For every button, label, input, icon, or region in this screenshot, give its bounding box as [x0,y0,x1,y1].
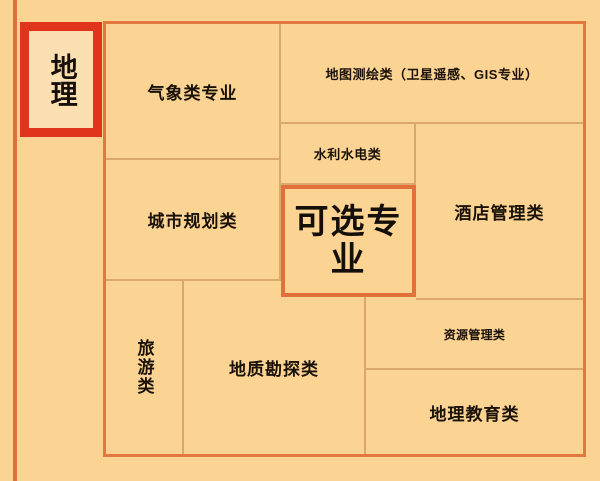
category-cell-geography-education[interactable]: 地理教育类 [366,370,583,454]
diagram-canvas: 地理 气象类专业 地图测绘类（卫星遥感、GIS专业） 水利水电类 城市规划类 酒… [0,0,600,481]
category-label-meteorology: 气象类专业 [144,79,242,104]
category-label-resource-management: 资源管理类 [440,326,510,343]
category-label-hotel-management: 酒店管理类 [451,199,549,224]
category-cell-geological-survey[interactable]: 地质勘探类 [184,281,366,454]
subject-label: 地理 [46,53,75,107]
category-cell-cartography[interactable]: 地图测绘类（卫星遥感、GIS专业） [281,24,583,124]
category-cell-hydropower[interactable]: 水利水电类 [281,124,416,185]
category-cell-hotel-management[interactable]: 酒店管理类 [416,124,583,300]
left-vertical-rule [13,0,17,481]
category-label-geological-survey: 地质勘探类 [225,355,323,380]
optional-majors-label: 可选专业 [285,203,412,279]
category-cell-urban-planning[interactable]: 城市规划类 [106,160,281,281]
category-cell-tourism[interactable]: 旅游类 [106,281,184,454]
optional-majors-callout[interactable]: 可选专业 [281,185,416,297]
category-label-urban-planning: 城市规划类 [144,207,242,232]
category-label-tourism: 旅游类 [130,339,157,396]
category-label-cartography: 地图测绘类（卫星遥感、GIS专业） [322,64,543,83]
category-cell-resource-management[interactable]: 资源管理类 [366,300,583,370]
category-label-geography-education: 地理教育类 [426,400,524,425]
category-label-hydropower: 水利水电类 [310,144,386,163]
major-category-grid: 气象类专业 地图测绘类（卫星遥感、GIS专业） 水利水电类 城市规划类 酒店管理… [103,21,586,457]
category-cell-meteorology[interactable]: 气象类专业 [106,24,281,160]
subject-callout-geography[interactable]: 地理 [20,22,102,137]
